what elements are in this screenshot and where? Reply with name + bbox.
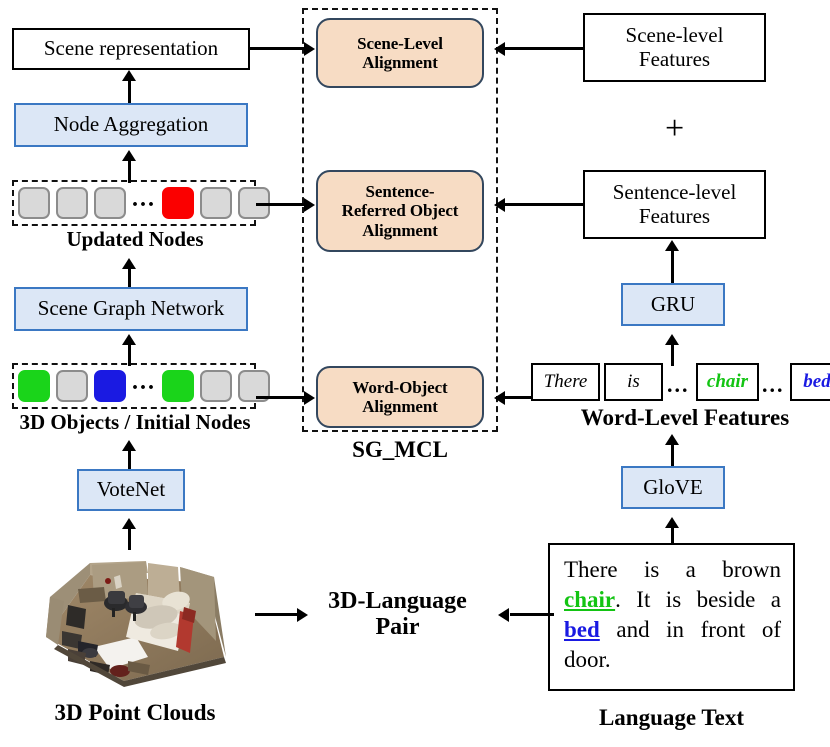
updated-node-chip: [94, 187, 126, 219]
initial-node-chip: [18, 370, 50, 402]
scene-level-alignment-box: Scene-Level Alignment: [316, 18, 484, 88]
architecture-diagram: Scene representation Node Aggregation ..…: [0, 0, 830, 747]
votenet-box: VoteNet: [77, 469, 185, 511]
glove-box: GloVE: [621, 466, 725, 509]
scene-level-features-box: Scene-level Features: [583, 13, 766, 82]
language-text-part1: There is a brown: [564, 557, 781, 582]
scene-level-alignment-line1: Scene-Level: [357, 34, 443, 53]
arrow-scenefeat-to-scenealign-head: [494, 42, 505, 56]
arrow-initialnodes-to-wordalign-head: [304, 391, 315, 405]
scene-representation-label: Scene representation: [44, 37, 218, 61]
pair-label-line2: Pair: [305, 614, 490, 640]
scene-level-features-line1: Scene-level: [626, 24, 724, 48]
arrow-gru-to-sentfeat-line: [671, 250, 674, 284]
gru-label: GRU: [651, 293, 695, 317]
pair-label-line1: 3D-Language: [305, 588, 490, 614]
word-box-is: is: [604, 363, 663, 401]
arrow-gru-to-sentfeat-head: [665, 240, 679, 251]
scene-representation-box: Scene representation: [12, 28, 250, 70]
initial-nodes-row: ...: [18, 370, 270, 402]
sentence-referred-alignment-line2: Referred Object: [342, 201, 459, 220]
point-clouds-caption: 3D Point Clouds: [0, 700, 270, 725]
arrow-glove-to-wordfeat-head: [665, 434, 679, 445]
arrow-langtext-to-pair-line: [510, 613, 554, 616]
updated-nodes-ellipsis: ...: [128, 187, 160, 219]
language-text-box: There is a brown chair. It is beside a b…: [548, 543, 795, 691]
arrow-initialnodes-to-wordalign-line: [256, 396, 306, 399]
arrow-langtext-to-glove-head: [665, 517, 679, 528]
initial-node-chip: [56, 370, 88, 402]
word-box-bed: bed: [790, 363, 830, 401]
initial-nodes-ellipsis: ...: [128, 370, 160, 402]
word-box-there: There: [531, 363, 600, 401]
sentence-level-features-line2: Features: [639, 205, 710, 229]
point-cloud-image: [28, 545, 243, 695]
language-text-part2: . It is beside a: [615, 587, 781, 612]
word-object-alignment-line2: Alignment: [362, 397, 438, 416]
sentence-referred-alignment-line1: Sentence-: [366, 182, 435, 201]
updated-nodes-row: ...: [18, 187, 270, 219]
point-cloud-svg: [28, 545, 243, 695]
sg-mcl-group-label: SG_MCL: [302, 437, 498, 462]
word-row-ellipsis-1: ...: [667, 372, 690, 398]
updated-node-chip: [56, 187, 88, 219]
word-object-alignment-line1: Word-Object: [352, 378, 447, 397]
arrow-wordfeat-to-gru-head: [665, 334, 679, 345]
arrow-pointcloud-to-pair-head: [297, 608, 308, 622]
word-row-ellipsis-2: ...: [762, 372, 785, 398]
arrow-sgn-to-updatednodes-head: [122, 258, 136, 269]
arrow-updatednodes-to-nodeagg-head: [122, 150, 136, 161]
arrow-scenefeat-to-scenealign-line: [496, 47, 584, 50]
scene-graph-network-label: Scene Graph Network: [38, 297, 225, 321]
sentence-referred-alignment-line3: Alignment: [362, 221, 438, 240]
arrow-initialnodes-to-sgn-head: [122, 334, 136, 345]
scene-level-features-line2: Features: [639, 48, 710, 72]
updated-node-chip-highlight: [162, 187, 194, 219]
scene-level-alignment-line2: Alignment: [362, 53, 438, 72]
initial-node-chip: [200, 370, 232, 402]
updated-node-chip: [200, 187, 232, 219]
node-aggregation-box: Node Aggregation: [14, 103, 248, 147]
arrow-scenerep-to-scenealign-line: [250, 47, 306, 50]
arrow-nodeagg-to-scenerep-line: [128, 80, 131, 103]
arrow-wordfeat-to-wordalign-head: [494, 391, 505, 405]
word-box-there-label: There: [544, 371, 588, 393]
arrow-pointcloud-to-votenet-head: [122, 518, 136, 529]
arrow-updatednodes-to-sentalign-head: [304, 198, 315, 212]
arrow-nodeagg-to-scenerep-head: [122, 70, 136, 81]
3d-language-pair-label: 3D-Language Pair: [305, 588, 490, 641]
arrow-updatednodes-to-sentalign-line: [256, 203, 306, 206]
arrow-sentfeat-to-sentalign-head: [494, 198, 505, 212]
arrow-scenerep-to-scenealign-head: [304, 42, 315, 56]
arrow-sentfeat-to-sentalign-line: [496, 203, 584, 206]
arrow-glove-to-wordfeat-line: [671, 444, 674, 466]
sentence-level-features-line1: Sentence-level: [613, 181, 737, 205]
glove-label: GloVE: [643, 476, 703, 500]
initial-nodes-caption: 3D Objects / Initial Nodes: [0, 411, 270, 434]
word-object-alignment-box: Word-Object Alignment: [316, 366, 484, 428]
word-box-chair: chair: [696, 363, 759, 401]
sentence-referred-object-alignment-box: Sentence- Referred Object Alignment: [316, 170, 484, 252]
updated-node-chip: [18, 187, 50, 219]
arrow-votenet-to-initialnodes-line: [128, 450, 131, 470]
node-aggregation-label: Node Aggregation: [54, 113, 209, 137]
language-text-caption: Language Text: [548, 705, 795, 730]
sentence-level-features-box: Sentence-level Features: [583, 170, 766, 239]
language-text-keyword-chair: chair: [564, 587, 615, 612]
arrow-votenet-to-initialnodes-head: [122, 440, 136, 451]
arrow-wordfeat-to-gru-line: [671, 344, 674, 366]
plus-sign: +: [665, 112, 684, 146]
word-box-is-label: is: [627, 371, 640, 393]
initial-node-chip: [162, 370, 194, 402]
votenet-label: VoteNet: [97, 478, 165, 502]
arrow-langtext-to-pair-head: [498, 608, 509, 622]
word-level-features-caption: Word-Level Features: [555, 405, 815, 430]
scene-graph-network-box: Scene Graph Network: [14, 287, 248, 331]
gru-box: GRU: [621, 283, 725, 326]
language-text-keyword-bed: bed: [564, 617, 600, 642]
updated-nodes-caption: Updated Nodes: [0, 228, 270, 251]
word-box-bed-label: bed: [803, 371, 830, 393]
initial-node-chip: [94, 370, 126, 402]
arrow-pointcloud-to-pair-line: [255, 613, 299, 616]
word-box-chair-label: chair: [707, 371, 748, 393]
